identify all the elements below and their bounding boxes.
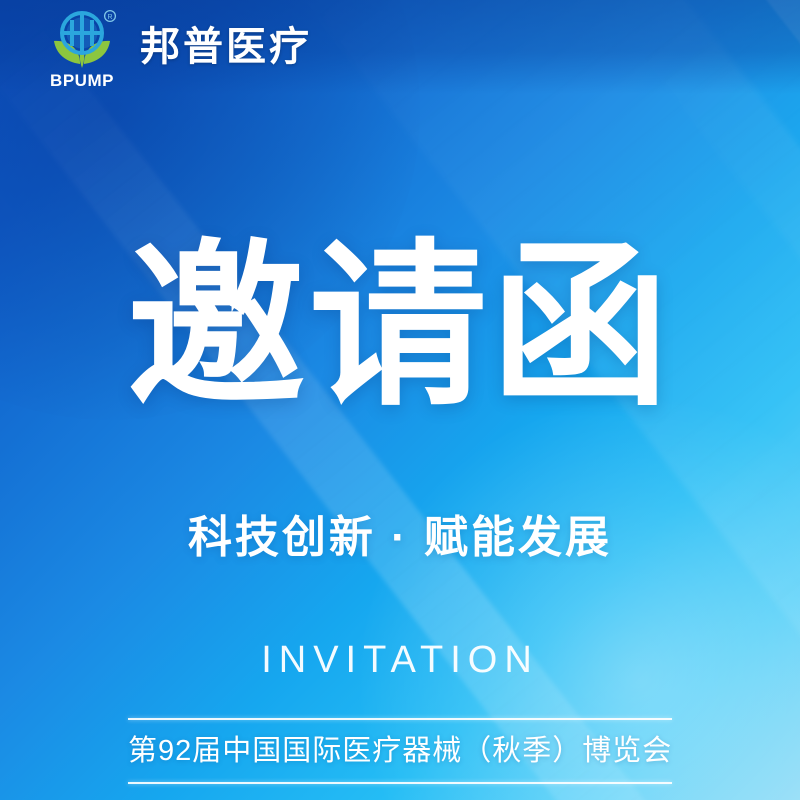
page-title: 邀请函 <box>0 238 800 416</box>
bpump-flower-logo-icon: R BPUMP <box>46 8 118 88</box>
brand-name-chinese: 邦普医疗 <box>140 27 312 67</box>
poster-subtitle: 科技创新 · 赋能发展 <box>0 512 800 565</box>
event-name: 第92届中国国际医疗器械（秋季）博览会 <box>128 720 672 782</box>
invitation-english-label: INVITATION <box>0 641 800 679</box>
footer-rule-bottom <box>128 782 672 784</box>
svg-text:R: R <box>107 14 112 21</box>
poster-header: R BPUMP 邦普医疗 <box>0 0 800 94</box>
invitation-poster: R BPUMP 邦普医疗 邀请函 科技创新 · 赋能发展 INVITATION … <box>0 0 800 800</box>
poster-footer: 第92届中国国际医疗器械（秋季）博览会 <box>128 718 672 784</box>
svg-text:BPUMP: BPUMP <box>50 71 114 88</box>
